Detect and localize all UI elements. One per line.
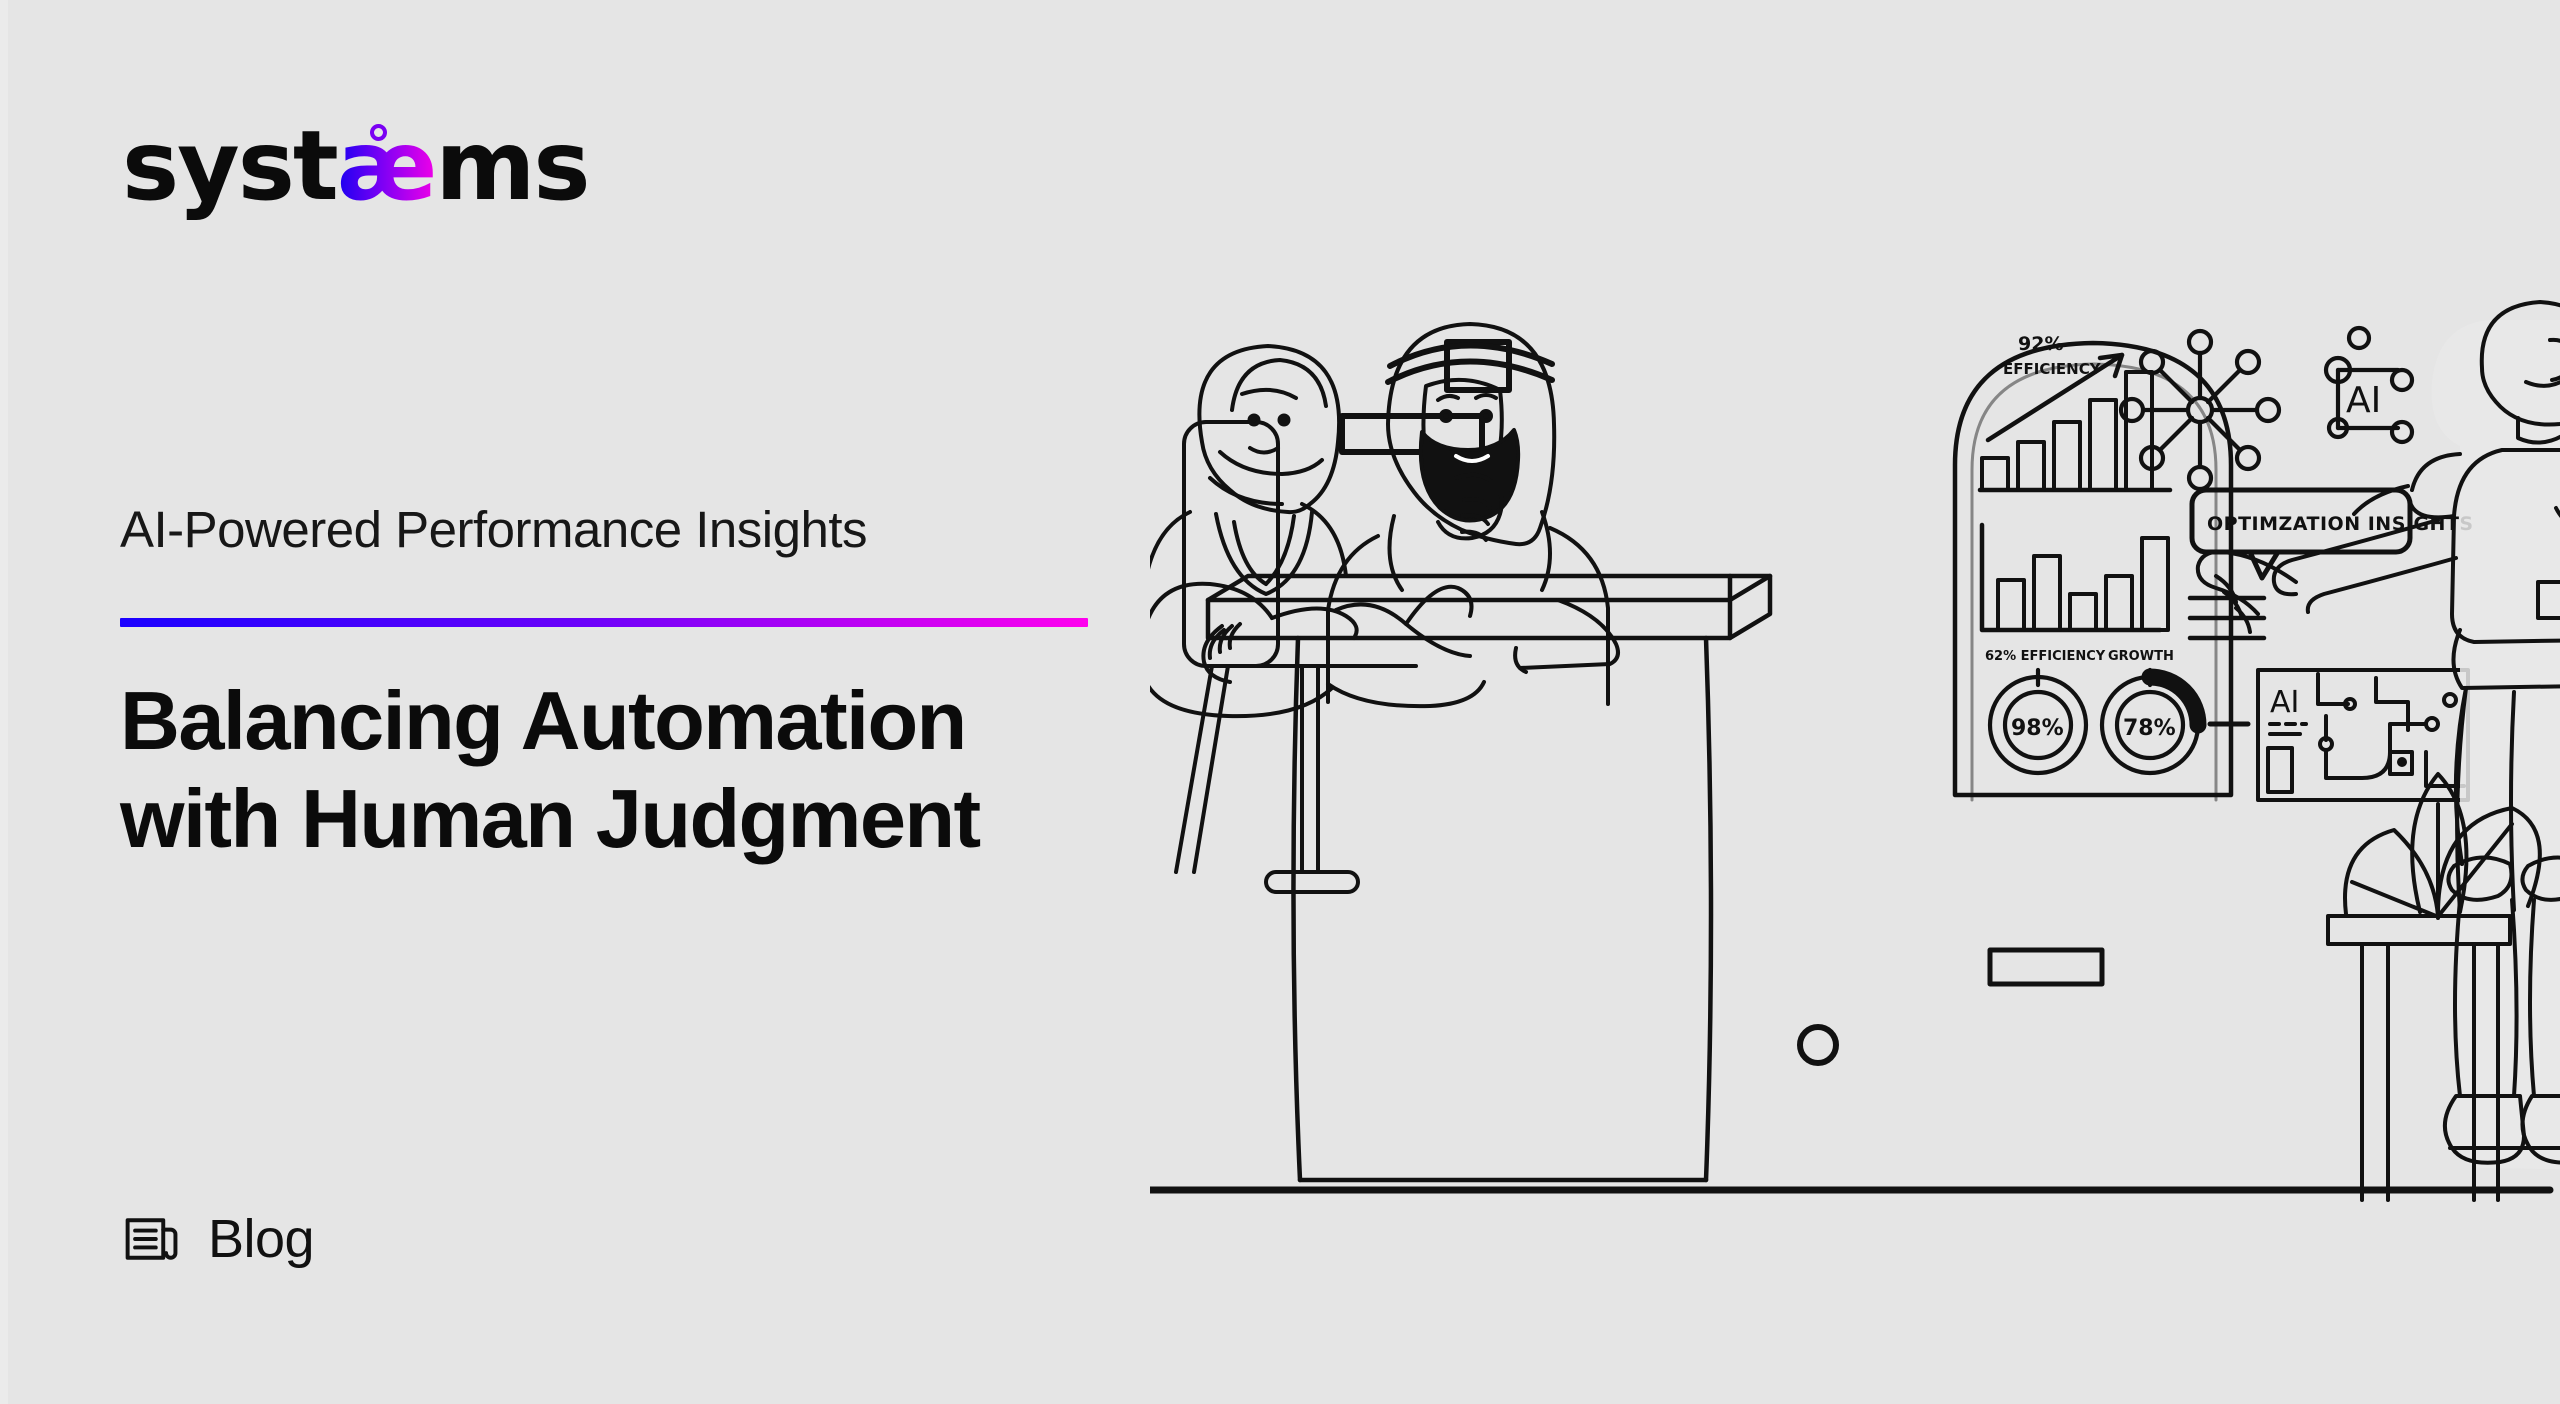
page-title-line-1: Balancing Automation (120, 672, 1250, 770)
svg-text:GROWTH: GROWTH (2108, 649, 2174, 664)
logo-accent-dot-icon (370, 124, 387, 141)
svg-text:AI: AI (2346, 380, 2381, 421)
svg-text:78%: 78% (2123, 716, 2176, 741)
page-title: Balancing Automation with Human Judgment (120, 672, 1250, 868)
svg-text:62% EFFICIENCY: 62% EFFICIENCY (1985, 649, 2106, 664)
category-label: Blog (208, 1208, 314, 1270)
brand-logo[interactable]: systæms (122, 118, 589, 214)
svg-text:92%: 92% (2018, 333, 2063, 355)
eyebrow-subtitle: AI-Powered Performance Insights (120, 500, 867, 559)
logo-text-part2: ms (435, 110, 588, 222)
hero-illustration: 92% EFFICIENCY AI (1150, 300, 2560, 1300)
left-edge-strip (0, 0, 8, 1404)
category-badge[interactable]: Blog (122, 1208, 314, 1270)
logo-ligature-ae: æ (337, 110, 436, 222)
logo-text-part1: syst (122, 110, 337, 222)
newspaper-icon (122, 1209, 182, 1269)
gradient-divider (120, 618, 1088, 627)
svg-text:98%: 98% (2011, 716, 2064, 741)
page-title-line-2: with Human Judgment (120, 770, 1250, 868)
svg-text:AI: AI (2270, 685, 2299, 720)
